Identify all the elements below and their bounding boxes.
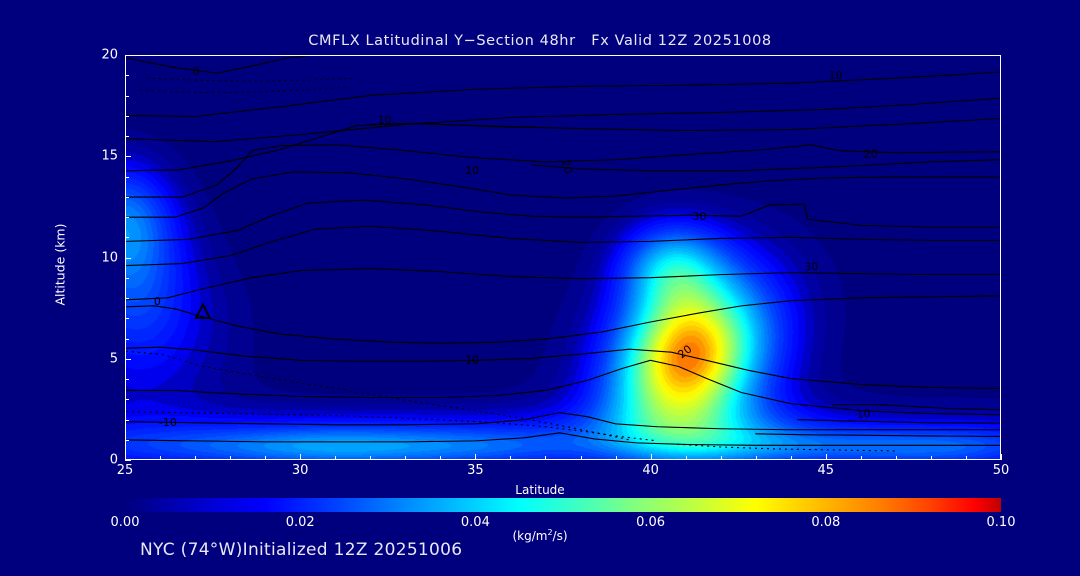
x-tick-label-40: 40 xyxy=(626,463,676,478)
x-tick-minor xyxy=(861,456,862,460)
y-tick-minor xyxy=(125,318,129,319)
x-tick-minor xyxy=(265,456,266,460)
y-tick-mark xyxy=(125,55,131,56)
x-tick-mark xyxy=(826,454,827,460)
y-tick-label-10: 10 xyxy=(78,250,118,265)
y-tick-minor xyxy=(125,440,129,441)
x-axis-label: Latitude xyxy=(0,483,1080,497)
x-tick-minor xyxy=(931,456,932,460)
y-tick-minor xyxy=(125,420,129,421)
x-tick-mark xyxy=(475,454,476,460)
x-tick-minor xyxy=(756,456,757,460)
y-tick-minor xyxy=(125,116,129,117)
footer-caption: NYC (74°W)Initialized 12Z 20251006 xyxy=(140,540,462,560)
y-axis-label: Altitude (km) xyxy=(53,195,68,335)
x-tick-minor xyxy=(791,456,792,460)
x-tick-minor xyxy=(545,456,546,460)
y-tick-minor xyxy=(125,75,129,76)
x-tick-minor xyxy=(440,456,441,460)
x-tick-minor xyxy=(230,456,231,460)
x-tick-minor xyxy=(721,456,722,460)
y-tick-mark xyxy=(125,359,131,360)
x-tick-minor xyxy=(335,456,336,460)
x-tick-minor xyxy=(686,456,687,460)
x-tick-label-25: 25 xyxy=(100,463,150,478)
y-tick-label-20: 20 xyxy=(78,48,118,63)
figure-canvas: CMFLX Latitudinal Y−Section 48hr Fx Vali… xyxy=(0,0,1080,576)
y-tick-label-15: 15 xyxy=(78,149,118,164)
y-tick-minor xyxy=(125,278,129,279)
y-tick-label-5: 5 xyxy=(78,351,118,366)
x-tick-minor xyxy=(160,456,161,460)
x-tick-label-30: 30 xyxy=(275,463,325,478)
x-tick-mark xyxy=(125,454,126,460)
x-tick-minor xyxy=(616,456,617,460)
page-title: CMFLX Latitudinal Y−Section 48hr Fx Vali… xyxy=(0,33,1080,49)
y-tick-mark xyxy=(125,460,131,461)
colorbar[interactable] xyxy=(125,498,1001,512)
heatmap-canvas xyxy=(126,56,1000,459)
y-tick-minor xyxy=(125,298,129,299)
y-tick-minor xyxy=(125,136,129,137)
x-tick-label-50: 50 xyxy=(976,463,1026,478)
x-tick-mark xyxy=(1001,454,1002,460)
y-tick-minor xyxy=(125,237,129,238)
x-tick-minor xyxy=(966,456,967,460)
y-tick-minor xyxy=(125,96,129,97)
y-tick-minor xyxy=(125,399,129,400)
y-tick-minor xyxy=(125,379,129,380)
x-tick-minor xyxy=(896,456,897,460)
y-tick-mark xyxy=(125,156,131,157)
x-tick-minor xyxy=(195,456,196,460)
plot-area[interactable]: 0010101010102020203030-10 xyxy=(125,55,1001,460)
colorbar-gradient xyxy=(125,498,1001,512)
x-tick-mark xyxy=(651,454,652,460)
x-tick-label-45: 45 xyxy=(801,463,851,478)
y-tick-minor xyxy=(125,177,129,178)
y-tick-mark xyxy=(125,258,131,259)
x-tick-mark xyxy=(300,454,301,460)
y-tick-minor xyxy=(125,339,129,340)
x-tick-minor xyxy=(370,456,371,460)
units-tail: /s) xyxy=(553,529,568,543)
y-tick-minor xyxy=(125,217,129,218)
x-tick-minor xyxy=(510,456,511,460)
units-head: (kg/m xyxy=(512,529,547,543)
y-tick-minor xyxy=(125,197,129,198)
x-tick-label-35: 35 xyxy=(450,463,500,478)
x-tick-minor xyxy=(581,456,582,460)
x-tick-minor xyxy=(405,456,406,460)
